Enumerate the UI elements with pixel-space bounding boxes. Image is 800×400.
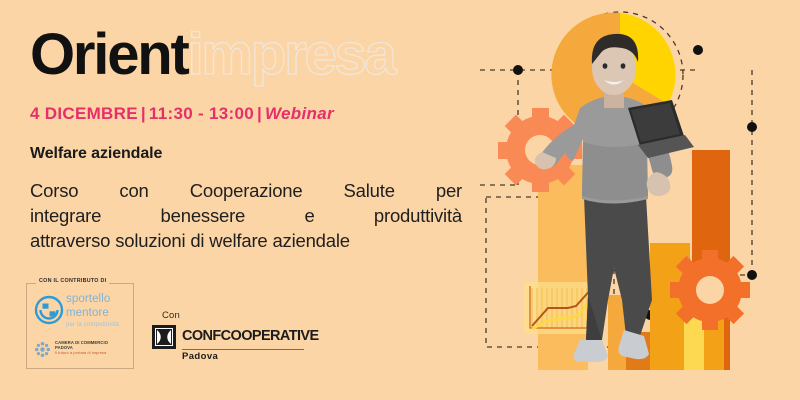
description-line-3: attraverso soluzioni di welfare aziendal… — [30, 228, 462, 253]
text-column: Orientimpresa 4 DICEMBRE|11:30 - 13:00|W… — [0, 0, 480, 400]
page-title: Welfare aziendale — [30, 145, 162, 163]
description-line-1: Corso con Cooperazione Salute per — [30, 178, 462, 203]
event-meta-line: 4 DICEMBRE|11:30 - 13:00|Webinar — [30, 104, 334, 124]
confcooperative-divider — [182, 349, 304, 350]
confcooperative-name: CONFCOOPERATIVE — [182, 328, 319, 344]
partner-prefix-label: Con — [162, 310, 180, 321]
camera-commercio-mark-icon — [34, 341, 51, 358]
confcooperative-city: Padova — [182, 351, 218, 362]
sportello-line-1: sportello — [66, 292, 119, 306]
event-time: 11:30 - 13:00 — [149, 104, 254, 123]
meta-separator-1: | — [138, 104, 149, 123]
brand-logotype: Orientimpresa — [30, 26, 395, 84]
poster-canvas: Orientimpresa 4 DICEMBRE|11:30 - 13:00|W… — [0, 0, 800, 400]
brand-word-outline: impresa — [188, 22, 395, 87]
sportello-mentore-logo: sportello mentore per la competitività — [34, 292, 128, 336]
confcooperative-mark-icon — [152, 325, 176, 349]
event-description: Corso con Cooperazione Salute per integr… — [30, 178, 462, 253]
sportello-wordmark: sportello mentore per la competitività — [66, 292, 119, 330]
camera-commercio-logo: CAMERA DI COMMERCIO PADOVA Il futuro a p… — [34, 340, 130, 362]
event-date: 4 DICEMBRE — [30, 104, 138, 123]
illustration-svg — [480, 0, 800, 400]
camera-commercio-tagline: Il futuro a portata di impresa — [55, 350, 108, 356]
description-line-2: integrare benessere e produttività — [30, 203, 462, 228]
meta-separator-2: | — [254, 104, 265, 123]
bar-light-tall — [538, 165, 588, 370]
sportello-line-2: mentore — [66, 306, 119, 320]
sportello-tagline: per la competitività — [66, 320, 119, 330]
gear-lower-icon — [670, 250, 750, 330]
event-format: Webinar — [265, 104, 334, 123]
hero-illustration — [480, 0, 800, 400]
confcooperative-logo: CONFCOOPERATIVE Padova — [152, 325, 302, 365]
brand-word-solid: Orient — [30, 22, 188, 87]
contribution-label: CON IL CONTRIBUTO DI — [36, 278, 109, 284]
sportello-mark-icon — [34, 295, 64, 325]
camera-commercio-wordmark: CAMERA DI COMMERCIO PADOVA Il futuro a p… — [55, 340, 108, 356]
